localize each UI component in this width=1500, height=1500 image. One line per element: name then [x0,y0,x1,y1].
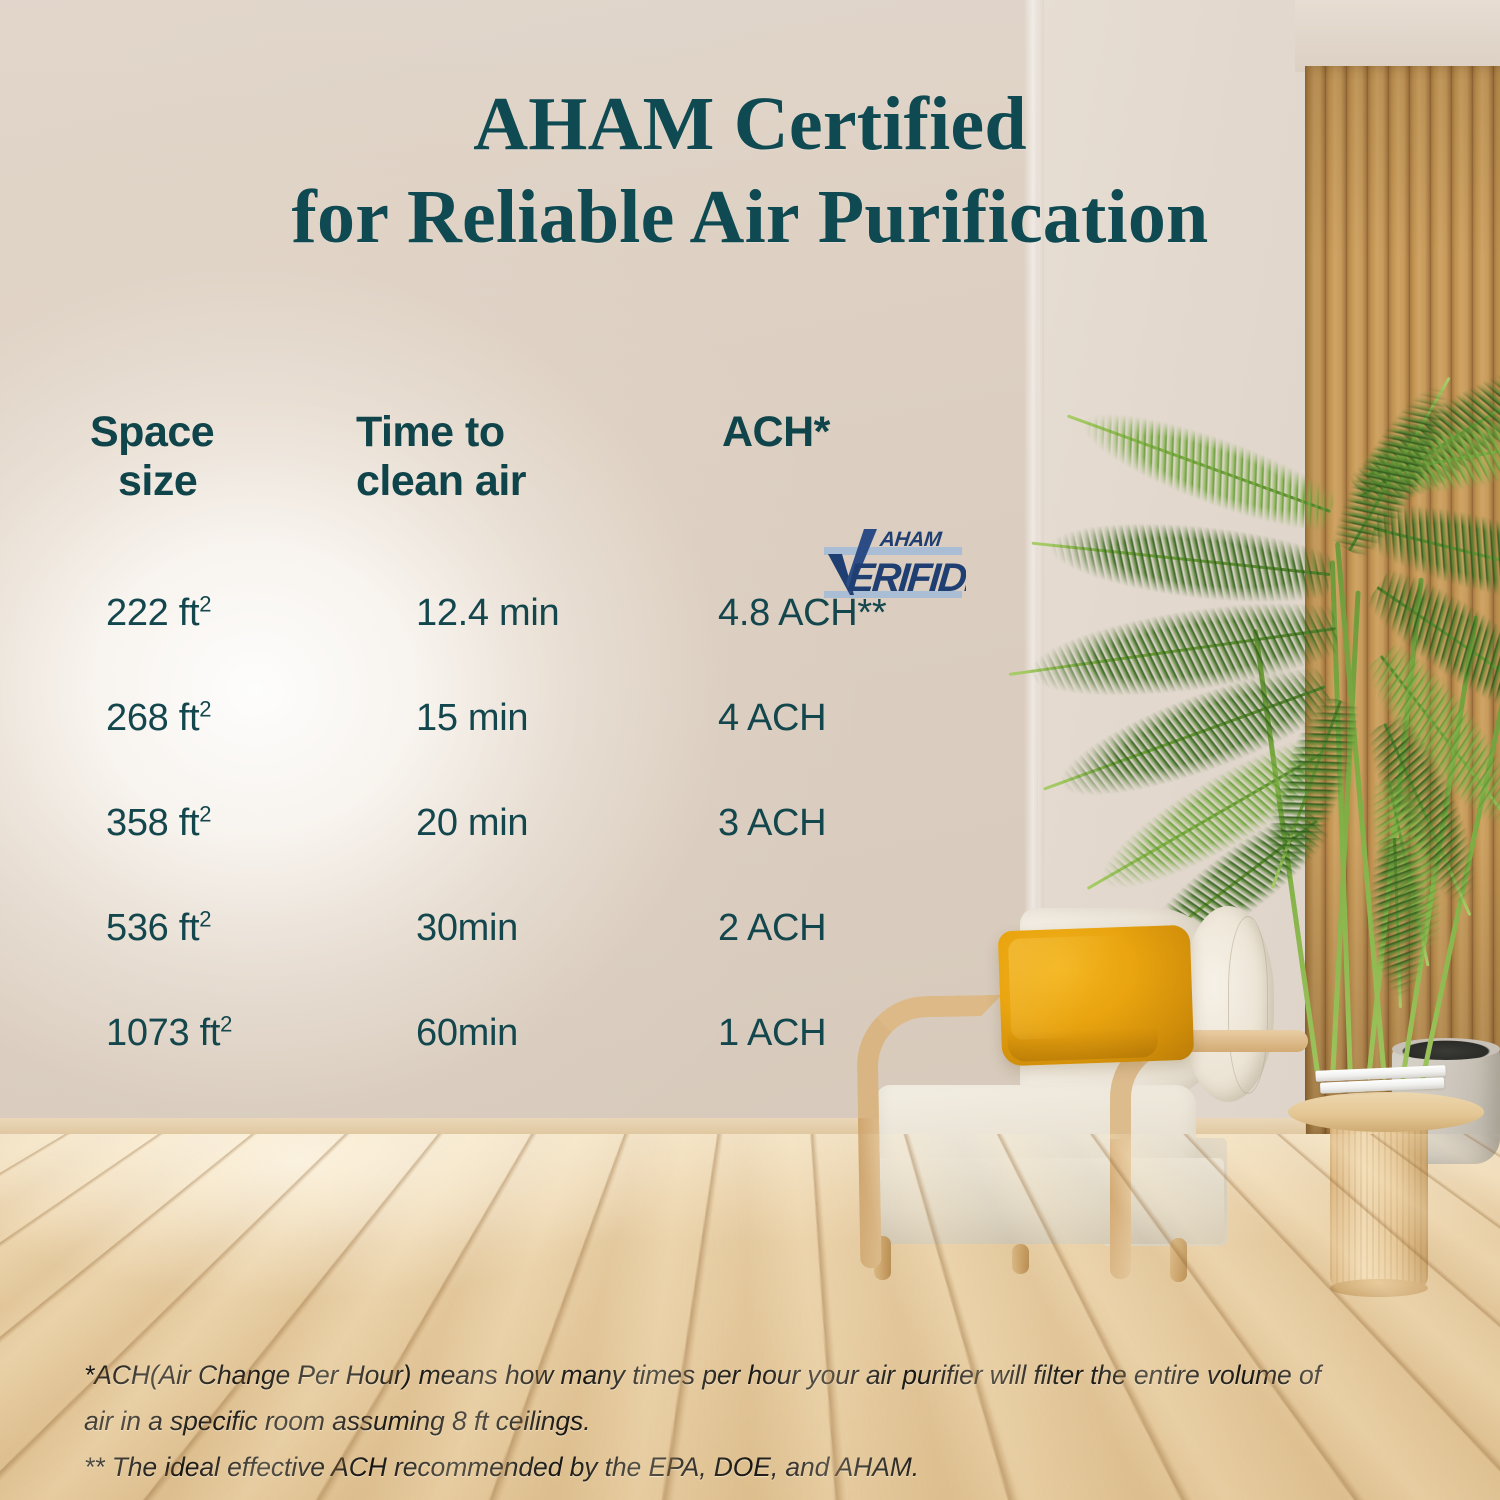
aham-verifide-logo: AHAM ERIFIDE [820,521,966,605]
column-header-ach: ACH* [638,408,888,457]
cell-space-size: 1073 ft2 [88,1012,338,1055]
column-header-time-to-clean-air: Time to clean air [338,408,638,506]
page-title: AHAM Certified for Reliable Air Purifica… [0,78,1500,265]
cell-space-size-value: 536 ft [106,907,199,949]
specs-table: Space size Time to clean air ACH* 222 ft… [88,408,888,1055]
svg-text:ERIFIDE: ERIFIDE [846,556,966,600]
table-row: 268 ft215 min4 ACH [88,697,888,740]
footnote-ach-definition-cont: air in a specific room assuming 8 ft cei… [84,1398,1424,1444]
cell-space-size-unit-exponent: 2 [199,591,211,616]
cell-space-size-unit-exponent: 2 [199,801,211,826]
stacked-books [1315,1065,1446,1099]
table-row: 358 ft220 min3 ACH [88,802,888,845]
chair-armrest-right [1110,1030,1295,1258]
column-header-space-size: Space size [88,408,338,506]
product-infographic: AHAM Certified for Reliable Air Purifica… [0,0,1500,1500]
svg-text:AHAM: AHAM [878,528,943,551]
cell-time-to-clean-air: 20 min [338,802,638,845]
cell-space-size-unit-exponent: 2 [199,696,211,721]
cell-ach: 4 ACH [638,697,888,740]
table-row: 536 ft230min2 ACH [88,907,888,950]
headline-line-2: for Reliable Air Purification [0,171,1500,264]
footnote-ach-definition: *ACH(Air Change Per Hour) means how many… [84,1352,1424,1398]
column-header-time-line2: clean air [356,457,638,506]
table-row: 1073 ft260min1 ACH [88,1012,888,1055]
side-table-base [1330,1112,1428,1290]
cell-space-size-value: 1073 ft [106,1012,220,1054]
wall-soffit [1295,0,1500,72]
table-header-row: Space size Time to clean air ACH* [88,408,888,506]
cell-time-to-clean-air: 30min [338,907,638,950]
chair-leg [1012,1244,1029,1274]
cell-time-to-clean-air: 12.4 min [338,592,638,635]
footnote-epa-doe-aham: ** The ideal effective ACH recommended b… [84,1444,1424,1490]
cell-ach: 1 ACH [638,1012,888,1055]
mustard-throw-pillow [998,925,1195,1067]
cell-time-to-clean-air: 15 min [338,697,638,740]
cell-space-size-unit-exponent: 2 [220,1011,232,1036]
cell-space-size-value: 358 ft [106,802,199,844]
cell-time-to-clean-air: 60min [338,1012,638,1055]
cell-space-size-value: 222 ft [106,592,199,634]
cell-space-size: 222 ft2 [88,592,338,635]
cell-space-size-unit-exponent: 2 [199,906,211,931]
column-header-time-line1: Time to [356,408,638,457]
column-header-space-size-line2: size [90,457,338,506]
table-body: 222 ft212.4 min4.8 ACH**268 ft215 min4 A… [88,592,888,1055]
cell-ach: 2 ACH [638,907,888,950]
headline-line-1: AHAM Certified [473,82,1027,166]
cell-space-size: 358 ft2 [88,802,338,845]
cell-space-size: 268 ft2 [88,697,338,740]
cell-ach: 3 ACH [638,802,888,845]
footnotes: *ACH(Air Change Per Hour) means how many… [84,1352,1424,1490]
column-header-space-size-line1: Space [90,408,338,457]
cell-space-size-value: 268 ft [106,697,199,739]
table-row: 222 ft212.4 min4.8 ACH** [88,592,888,635]
cell-space-size: 536 ft2 [88,907,338,950]
